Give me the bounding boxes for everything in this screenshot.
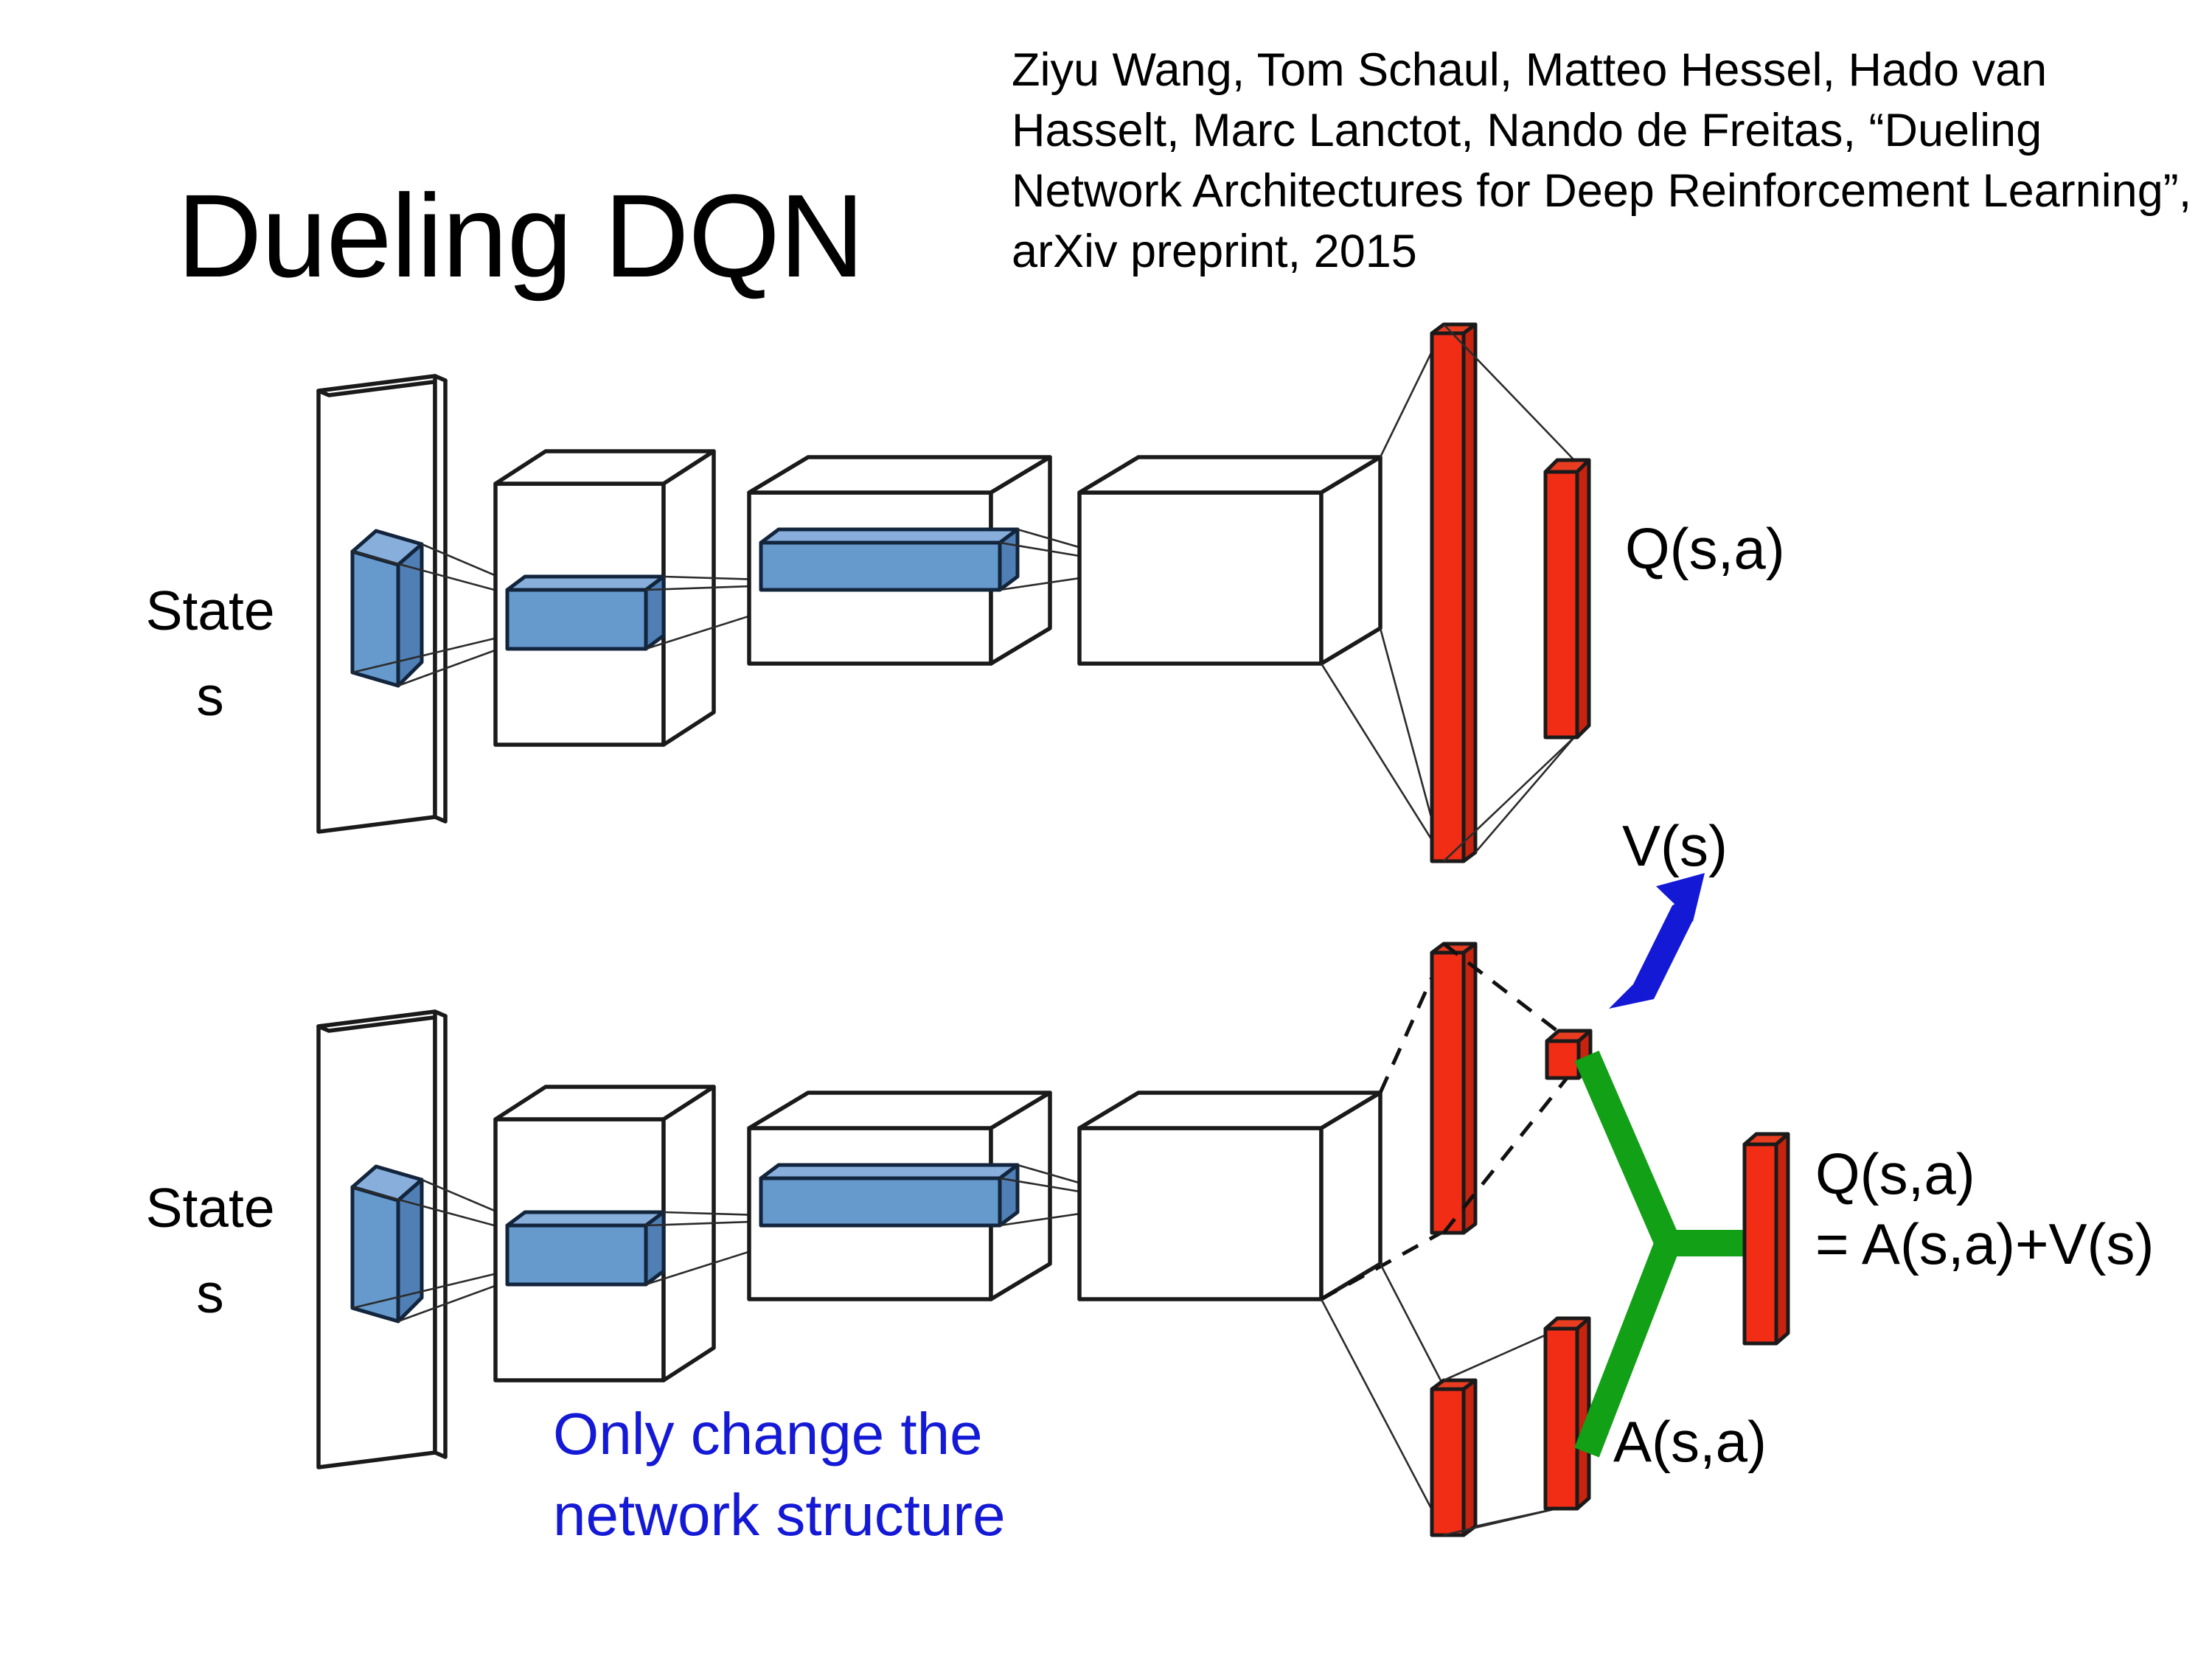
v-label: V(s) [1622,811,1728,881]
feature-bar-2-bottom [761,1165,1018,1225]
q-label-bottom-line1: Q(s,a) [1815,1139,2154,1209]
q-label-bottom-line2: = A(s,a)+V(s) [1815,1209,2154,1279]
state-label-bottom-line1: State [118,1165,302,1251]
conv-block-3-top [1079,457,1380,664]
slide-canvas: Dueling DQN Ziyu Wang, Tom Schaul, Matte… [0,0,2212,1659]
diagram-standard-dqn [319,324,1589,861]
page-title: Dueling DQN [177,174,864,298]
value-arrow [1609,873,1705,1009]
advantage-stream-fc-bar [1432,1380,1475,1535]
state-label-top-line1: State [118,568,302,653]
q-output-bar-top [1545,460,1589,737]
conv-block-3-bottom [1079,1093,1380,1299]
state-label-bottom-line2: s [118,1251,302,1336]
state-label-top-line2: s [118,653,302,739]
q-label-top: Q(s,a) [1625,514,1785,584]
note-line-2: network structure [553,1475,1006,1556]
note-line-1: Only change the [553,1394,1006,1475]
diagram-dueling-dqn [319,873,1788,1535]
advantage-vector-bar [1545,1318,1589,1509]
citation-text: Ziyu Wang, Tom Schaul, Matteo Hessel, Ha… [1012,41,2212,282]
state-label-bottom: State s [118,1165,302,1337]
state-label-top: State s [118,568,302,740]
q-label-bottom: Q(s,a) = A(s,a)+V(s) [1815,1139,2154,1279]
value-stream-fc-bar [1432,944,1475,1233]
feature-bar-2-top [761,529,1018,590]
advantage-stream-wires [1321,1264,1444,1532]
note-text: Only change the network structure [553,1394,1006,1557]
feature-bar-1-top [507,577,664,649]
aggregation-connector [1587,1056,1764,1453]
feature-bar-1-bottom [507,1212,664,1284]
fc-layer-top [1432,324,1475,861]
q-output-bar-bottom [1745,1134,1788,1343]
a-label: A(s,a) [1613,1407,1767,1477]
